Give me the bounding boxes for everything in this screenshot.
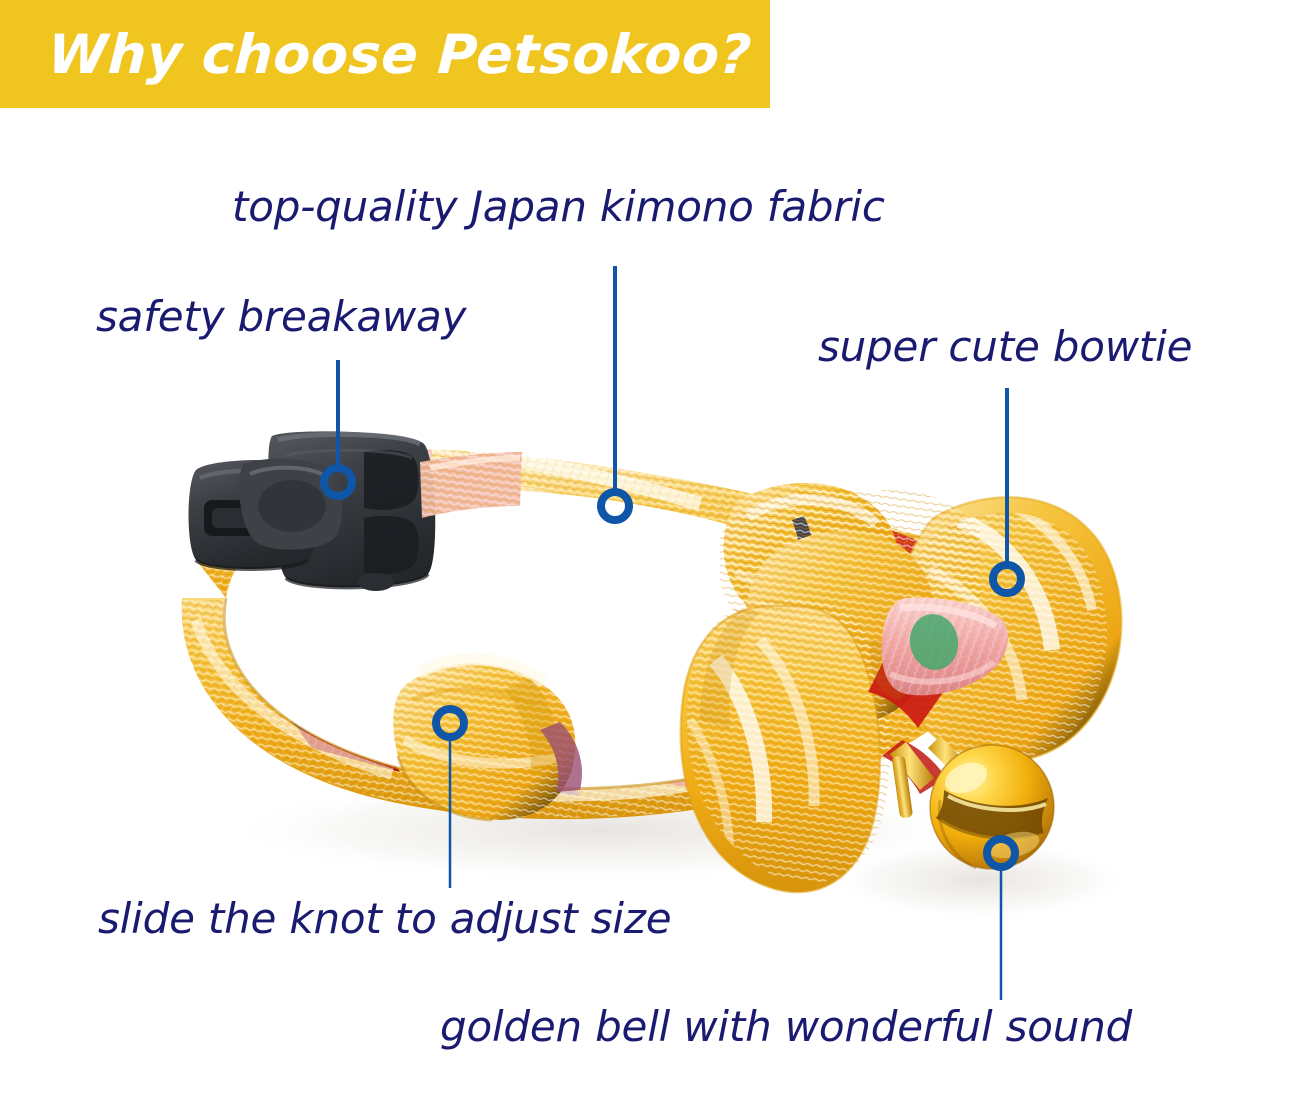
header-banner: Why choose Petsokoo? [0,0,770,108]
page-title: Why choose Petsokoo? [46,23,753,86]
infographic-page: Why choose Petsokoo? top-qualit [0,0,1300,1100]
callout-label-knot: slide the knot to adjust size [98,898,671,940]
safety-breakaway-buckle [189,431,436,591]
fabric-strap-through-buckle [420,452,522,518]
callout-label-bell: golden bell with wonderful sound [440,1006,1132,1048]
callout-label-buckle: safety breakaway [96,296,466,338]
callout-label-bowtie: super cute bowtie [818,326,1192,368]
callout-label-fabric: top-quality Japan kimono fabric [232,186,885,228]
